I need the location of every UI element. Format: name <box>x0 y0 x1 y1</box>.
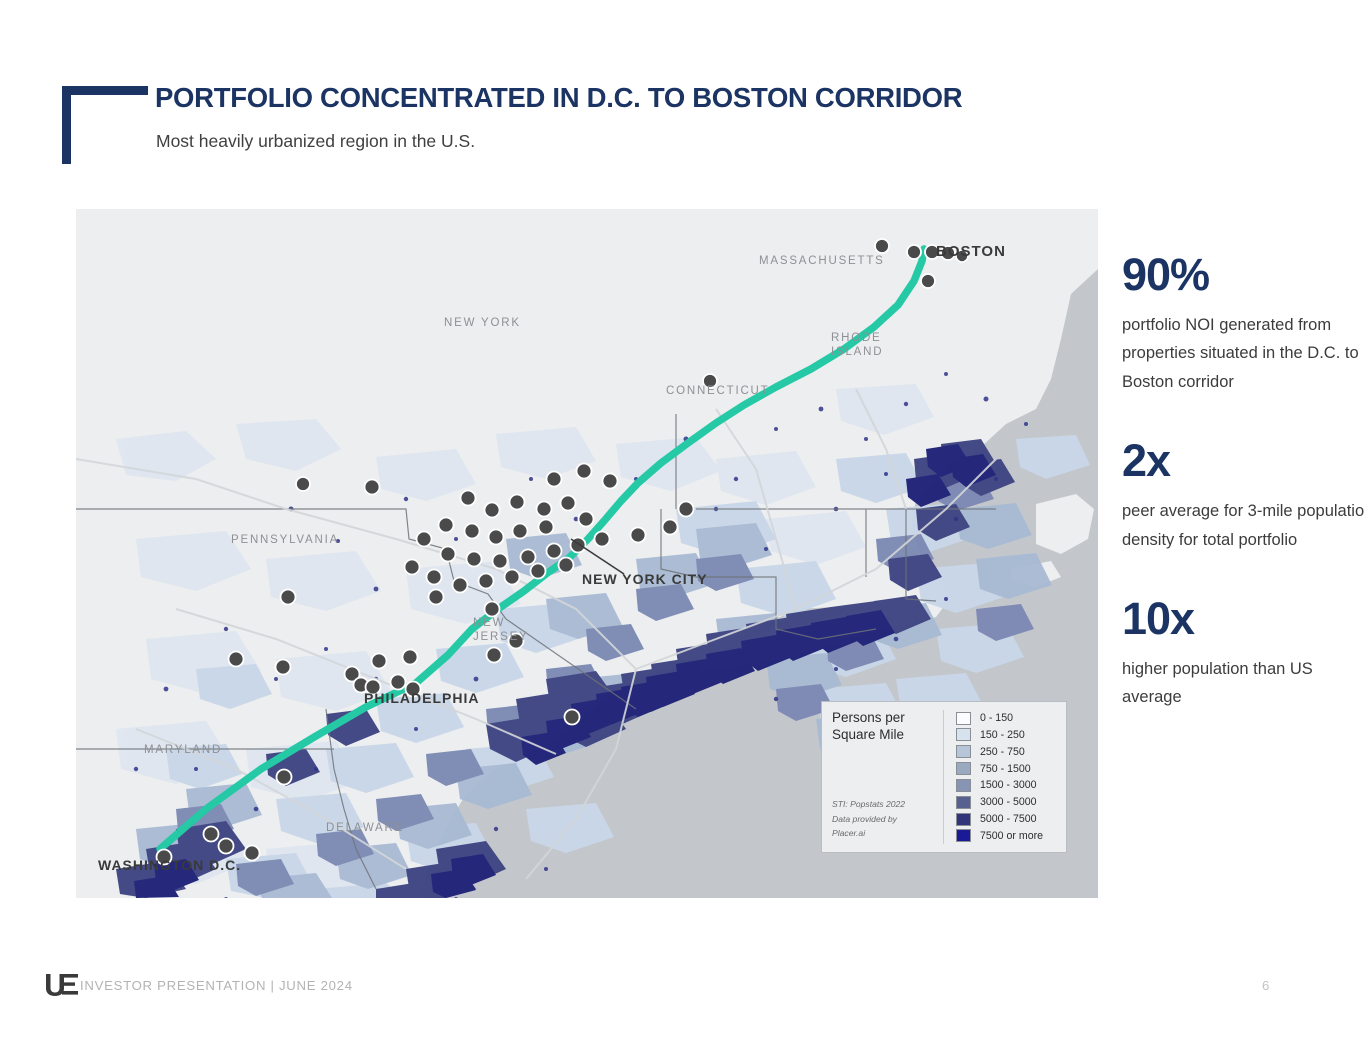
legend-item-label: 750 - 1500 <box>980 763 1031 775</box>
stat-value: 90% <box>1122 252 1365 297</box>
accent-bracket-horizontal <box>62 86 148 95</box>
legend-item-label: 150 - 250 <box>980 729 1025 741</box>
legend-item: 250 - 750 <box>956 744 1056 760</box>
population-density-map[interactable]: BOSTON NEW YORK CITY PHILADELPHIA WASHIN… <box>76 209 1098 898</box>
map-label-massachusetts: MASSACHUSETTS <box>759 255 885 267</box>
legend-item: 1500 - 3000 <box>956 777 1056 793</box>
ue-logo-icon <box>45 972 79 996</box>
map-label-new-york-city: NEW YORK CITY <box>582 571 708 587</box>
map-label-maryland: MARYLAND <box>144 744 222 756</box>
map-label-pennsylvania: PENNSYLVANIA <box>231 534 339 546</box>
map-label-boston: BOSTON <box>936 243 1006 260</box>
map-label-delaware: DELAWARE <box>326 822 404 834</box>
legend-source-line-2: Data provided by <box>832 812 905 826</box>
legend-source: STI: Popstats 2022 Data provided by Plac… <box>832 797 905 840</box>
page-title: PORTFOLIO CONCENTRATED IN D.C. TO BOSTON… <box>155 82 962 114</box>
stat-description: portfolio NOI generated from properties … <box>1122 311 1365 396</box>
legend-swatch <box>956 796 971 809</box>
map-label-new-jersey: NEW JERSEY <box>473 616 527 645</box>
legend-item-label: 5000 - 7500 <box>980 813 1037 825</box>
stat-description: higher population than US average <box>1122 655 1365 712</box>
legend-title-block: Persons per Square Mile STI: Popstats 20… <box>832 710 944 844</box>
stat-block-peer-average: 2x peer average for 3-mile population de… <box>1122 438 1365 554</box>
legend-item-label: 0 - 150 <box>980 712 1013 724</box>
legend-item: 150 - 250 <box>956 727 1056 743</box>
map-label-rhode-island: RHODE ISLAND <box>831 331 891 360</box>
legend-items: 0 - 150 150 - 250 250 - 750 750 - 1500 1… <box>944 710 1056 844</box>
legend-swatch <box>956 779 971 792</box>
legend-swatch <box>956 813 971 826</box>
page-subtitle: Most heavily urbanized region in the U.S… <box>156 131 475 152</box>
legend-title-line1: Persons per <box>832 710 937 727</box>
stat-block-population: 10x higher population than US average <box>1122 596 1365 712</box>
legend-source-line-3: Placer.ai <box>832 826 905 840</box>
map-label-connecticut: CONNECTICUT <box>666 385 770 397</box>
stat-description: peer average for 3-mile population densi… <box>1122 497 1365 554</box>
legend-item: 3000 - 5000 <box>956 794 1056 810</box>
legend-item-label: 250 - 750 <box>980 746 1025 758</box>
stat-block-noi: 90% portfolio NOI generated from propert… <box>1122 252 1365 396</box>
legend-item-label: 3000 - 5000 <box>980 796 1037 808</box>
legend-item: 7500 or more <box>956 828 1056 844</box>
legend-swatch <box>956 712 971 725</box>
legend-swatch <box>956 829 971 842</box>
map-label-philadelphia: PHILADELPHIA <box>364 690 479 706</box>
legend-source-line-1: STI: Popstats 2022 <box>832 797 905 811</box>
legend-item: 5000 - 7500 <box>956 811 1056 827</box>
stats-panel: 90% portfolio NOI generated from propert… <box>1122 252 1365 718</box>
legend-swatch <box>956 728 971 741</box>
map-label-new-york: NEW YORK <box>444 317 521 329</box>
stat-value: 2x <box>1122 438 1365 483</box>
legend-title-line2: Square Mile <box>832 727 937 744</box>
legend-item: 750 - 1500 <box>956 761 1056 777</box>
stat-value: 10x <box>1122 596 1365 641</box>
legend-swatch <box>956 745 971 758</box>
legend-item: 0 - 150 <box>956 710 1056 726</box>
footer-page-number: 6 <box>1262 978 1269 993</box>
map-legend: Persons per Square Mile STI: Popstats 20… <box>821 701 1067 853</box>
slide: PORTFOLIO CONCENTRATED IN D.C. TO BOSTON… <box>0 0 1365 1055</box>
legend-item-label: 7500 or more <box>980 830 1043 842</box>
legend-item-label: 1500 - 3000 <box>980 779 1037 791</box>
accent-bracket-vertical <box>62 86 71 164</box>
legend-swatch <box>956 762 971 775</box>
footer-text: INVESTOR PRESENTATION | JUNE 2024 <box>80 978 353 993</box>
map-label-washington-dc: WASHINGTON D.C. <box>98 857 241 873</box>
